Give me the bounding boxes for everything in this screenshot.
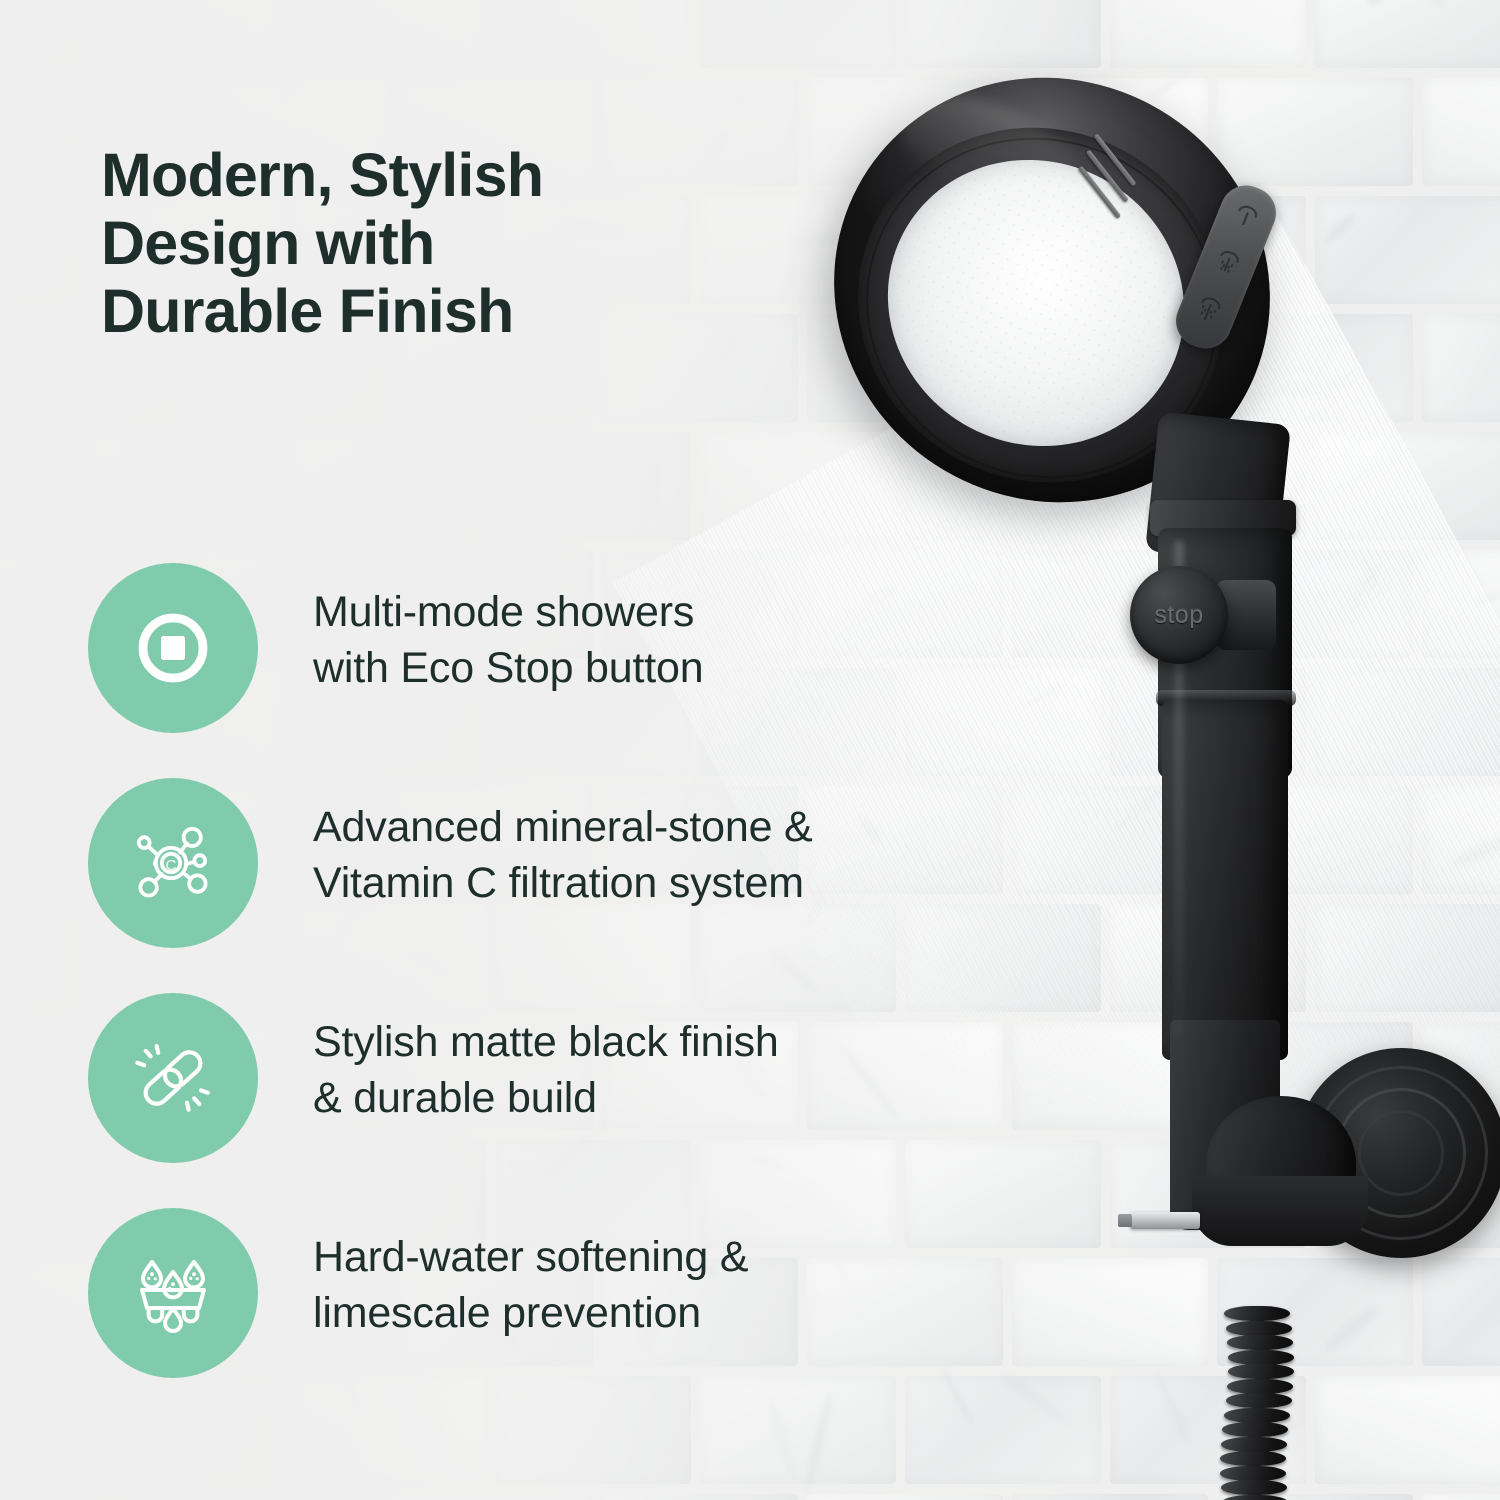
bracket-mounting-tab xyxy=(1130,1212,1200,1229)
hose-segment xyxy=(1228,1364,1294,1379)
infographic-canvas: stop Modern, Stylish Design with Durable… xyxy=(0,0,1500,1500)
feature-icon-badge xyxy=(88,563,258,733)
feature-line-2: limescale prevention xyxy=(313,1286,1043,1342)
page-title: Modern, Stylish Design with Durable Fini… xyxy=(101,141,741,346)
hose-segment xyxy=(1228,1350,1294,1365)
feature-item: C Advanced mine xyxy=(88,778,1048,993)
water-filter-droplets-icon xyxy=(125,1245,221,1341)
vitamin-c-molecule-icon: C xyxy=(125,815,221,911)
hose-segment xyxy=(1221,1480,1287,1495)
stop-button-icon xyxy=(125,600,221,696)
hose-segment xyxy=(1224,1408,1290,1423)
spray-mode-jet-icon xyxy=(1208,244,1247,283)
hose-segment xyxy=(1226,1393,1292,1408)
bracket-cradle-lip xyxy=(1192,1176,1368,1246)
feature-list: Multi-mode showers with Eco Stop button … xyxy=(88,563,1048,1423)
feature-text: Stylish matte black finish & durable bui… xyxy=(313,1015,1043,1127)
feature-line-1: Multi-mode showers xyxy=(313,585,1043,641)
feature-item: Stylish matte black finish & durable bui… xyxy=(88,993,1048,1208)
hose-segment xyxy=(1226,1321,1292,1336)
feature-icon-badge xyxy=(88,1208,258,1378)
feature-line-2: Vitamin C filtration system xyxy=(313,856,1043,912)
headline-line-2: Design with xyxy=(101,209,741,277)
hose-segment xyxy=(1221,1437,1287,1452)
feature-item: Hard-water softening & limescale prevent… xyxy=(88,1208,1048,1423)
hose-segment xyxy=(1222,1422,1288,1437)
headline-line-3: Durable Finish xyxy=(101,277,741,345)
feature-text: Multi-mode showers with Eco Stop button xyxy=(313,585,1043,697)
feature-text: Hard-water softening & limescale prevent… xyxy=(313,1230,1043,1342)
svg-text:C: C xyxy=(166,857,177,874)
hose-segment xyxy=(1227,1379,1293,1394)
chain-link-icon xyxy=(125,1030,221,1126)
spray-mode-massage-icon xyxy=(1189,290,1228,329)
feature-line-2: & durable build xyxy=(313,1071,1043,1127)
bracket-ring-3 xyxy=(1358,1110,1444,1196)
shower-hose xyxy=(1224,1306,1290,1500)
hose-segment xyxy=(1220,1466,1286,1481)
hose-segment xyxy=(1224,1306,1290,1321)
feature-line-1: Advanced mineral-stone & xyxy=(313,800,1043,856)
spray-mode-rain-icon xyxy=(1227,197,1266,236)
stop-button[interactable]: stop xyxy=(1130,566,1228,664)
feature-line-2: with Eco Stop button xyxy=(313,641,1043,697)
feature-text: Advanced mineral-stone & Vitamin C filtr… xyxy=(313,800,1043,912)
headline-line-1: Modern, Stylish xyxy=(101,141,741,209)
hose-segment xyxy=(1227,1335,1293,1350)
feature-item: Multi-mode showers with Eco Stop button xyxy=(88,563,1048,778)
feature-line-1: Hard-water softening & xyxy=(313,1230,1043,1286)
feature-icon-badge: C xyxy=(88,778,258,948)
feature-icon-badge xyxy=(88,993,258,1163)
stop-button-label: stop xyxy=(1154,601,1203,630)
hose-segment xyxy=(1220,1451,1286,1466)
feature-line-1: Stylish matte black finish xyxy=(313,1015,1043,1071)
hose-segment xyxy=(1222,1495,1288,1500)
